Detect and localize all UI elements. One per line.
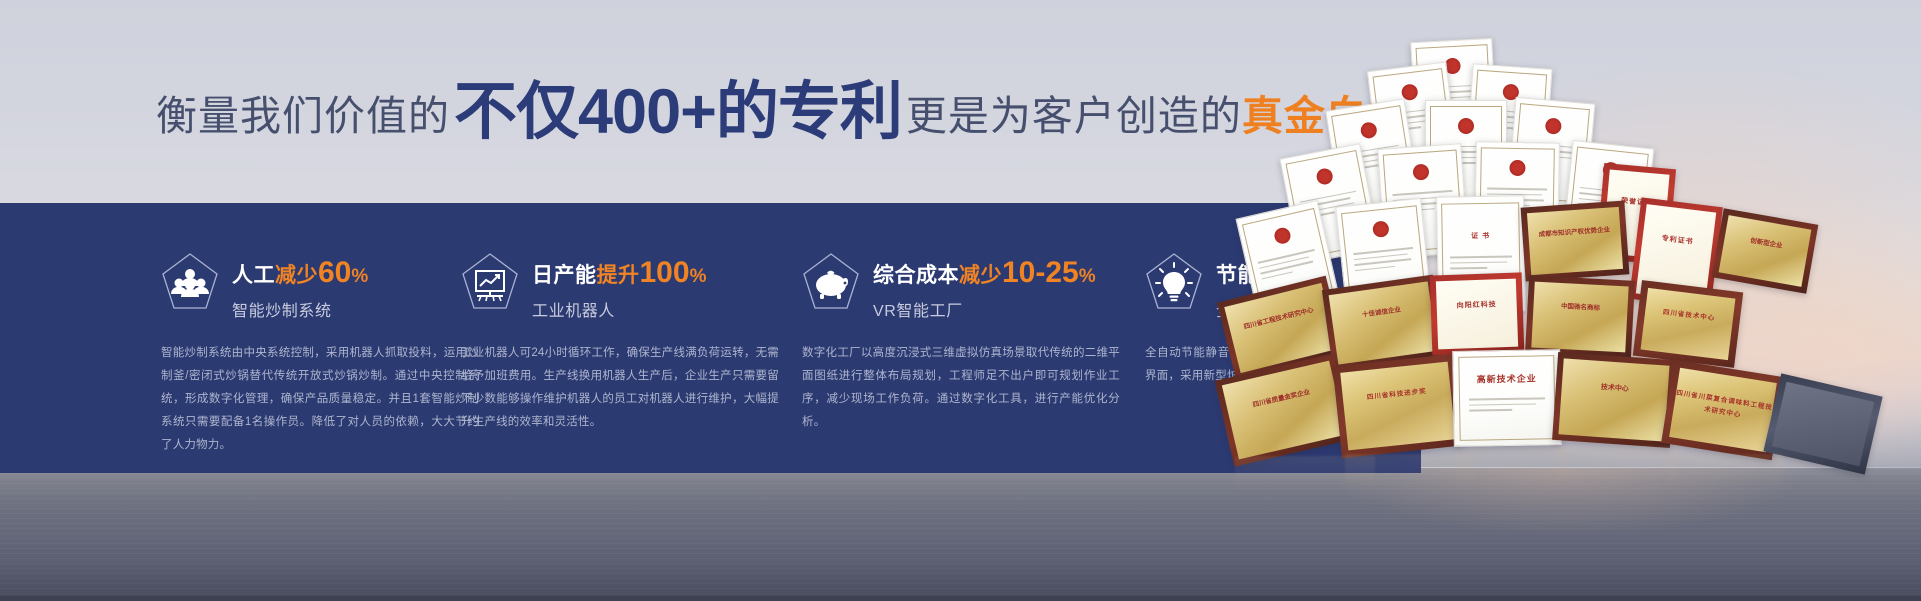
feature-metric-number: 10-25	[1002, 256, 1079, 289]
feature-subtitle: 智能炒制系统	[232, 297, 369, 321]
award-plaque: 技术中心	[1552, 352, 1676, 448]
award-plaque: 四川省技术中心	[1633, 280, 1744, 368]
award-plaque: 四川省科技进步奖	[1333, 354, 1464, 458]
certificate-paper: 高新技术企业	[1452, 349, 1562, 447]
award-plaque: 创新型企业	[1712, 208, 1819, 294]
headline-part-1: 衡量我们价值的	[156, 96, 450, 137]
award-plaque: 中国驰名商标	[1525, 275, 1635, 358]
feature-metric-unit: %	[351, 266, 368, 287]
feature-title: 综合成本减少10-25%	[873, 258, 1096, 288]
feature-title: 日产能提升100%	[532, 258, 707, 288]
certificate-reflection	[1667, 454, 1783, 496]
piggy-bank-icon	[802, 252, 860, 314]
headline-part-2-emphasis: 不仅400+的专利	[454, 81, 902, 144]
feature-metric-unit: %	[1079, 266, 1096, 287]
feature-description: 数字化工厂以高度沉浸式三维虚拟仿真场景取代传统的二维平面图纸进行整体布局规划，工…	[802, 342, 1120, 434]
headline-part-3: 更是为客户创造的	[906, 96, 1242, 137]
feature-title-plain: 日产能	[532, 264, 597, 287]
feature-title-accent: 减少	[959, 264, 1002, 287]
feature-subtitle: 工业机器人	[532, 297, 707, 321]
chart-presentation-icon	[461, 252, 519, 314]
feature-description: 工业机器人可24小时循环工作，确保生产线满负荷运转，无需给予加班费用。生产线换用…	[461, 342, 779, 434]
certificate-and-award-pile: 荣誉证书 证 书 成都市知识产权优势企业 专利证书 创新型企业 四川省工程技术研…	[1255, 38, 1921, 501]
features-panel: 人工减少60% 智能炒制系统 智能炒制系统由中央系统控制，采用机器人抓取投料，运…	[0, 203, 1421, 473]
certificate-reflection	[1557, 446, 1677, 492]
feature-block-cost-reduction: 综合成本减少10-25% VR智能工厂 数字化工厂以高度沉浸式三维虚拟仿真场景取…	[779, 203, 1120, 473]
people-group-icon	[161, 252, 219, 314]
feature-metric-number: 100	[640, 256, 690, 289]
lightbulb-icon	[1145, 252, 1203, 314]
feature-block-capacity-increase: 日产能提升100% 工业机器人 工业机器人可24小时循环工作，确保生产线满负荷运…	[434, 203, 779, 473]
feature-subtitle: VR智能工厂	[873, 297, 1096, 321]
feature-title: 人工减少60%	[232, 258, 369, 288]
feature-title-accent: 减少	[275, 264, 318, 287]
certificate-reflection	[1455, 448, 1567, 498]
feature-title-accent: 提升	[597, 264, 640, 287]
feature-description: 智能炒制系统由中央系统控制，采用机器人抓取投料，运用炒制釜/密闭式炒锅替代传统开…	[161, 342, 479, 457]
feature-title-plain: 综合成本	[873, 264, 959, 287]
feature-title-plain: 人工	[232, 264, 275, 287]
bottom-bar	[0, 596, 1921, 601]
award-plaque: 向阳红科技	[1430, 272, 1525, 355]
feature-metric-number: 60	[318, 256, 351, 289]
feature-metric-unit: %	[690, 266, 707, 287]
feature-block-labor-reduction: 人工减少60% 智能炒制系统 智能炒制系统由中央系统控制，采用机器人抓取投料，运…	[0, 203, 434, 473]
award-plaque: 成都市知识产权优势企业	[1521, 200, 1630, 281]
